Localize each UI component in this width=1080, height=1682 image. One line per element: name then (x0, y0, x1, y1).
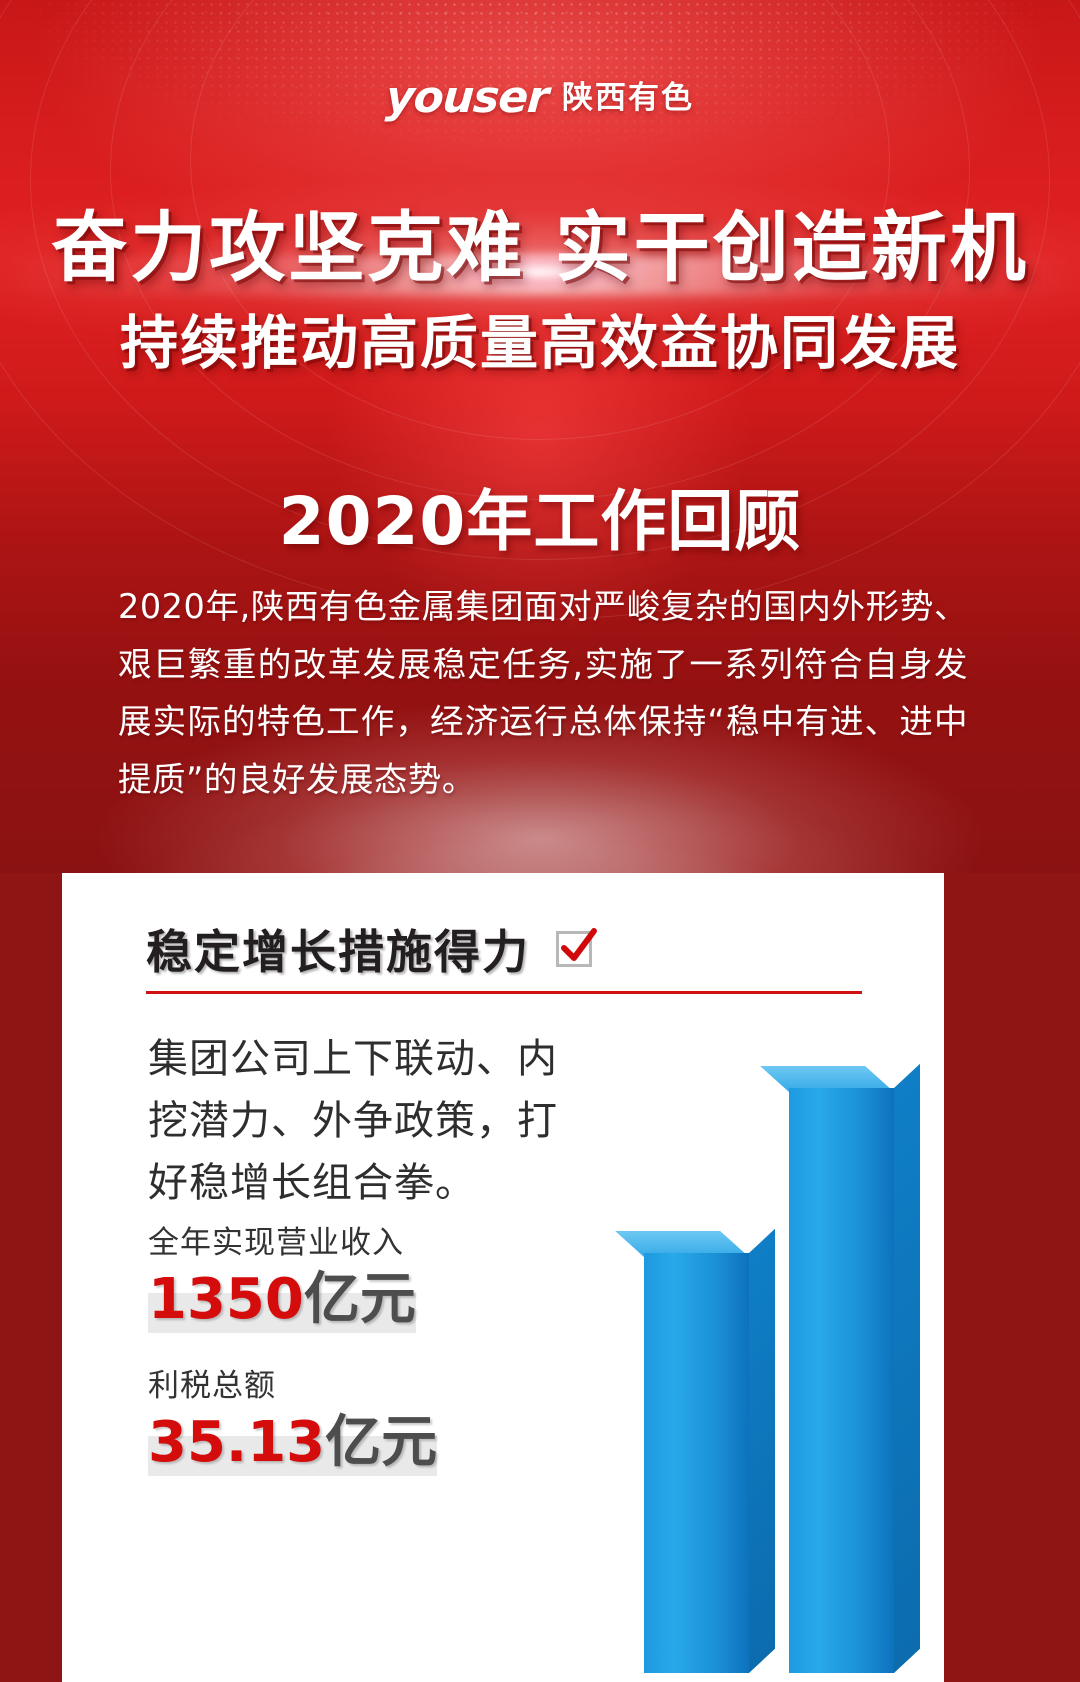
checkmark-icon (556, 931, 592, 967)
stat-value: 1350亿元 (148, 1268, 416, 1332)
stat-revenue: 全年实现营业收入 1350亿元 (148, 1225, 578, 1333)
stat-unit: 亿元 (325, 1410, 437, 1475)
stat-unit: 亿元 (304, 1267, 416, 1332)
card-header: 稳定增长措施得力 (146, 918, 862, 980)
stat-profit-tax: 利税总额 35.13亿元 (148, 1368, 578, 1476)
bar-column-left (644, 1253, 749, 1673)
hero-banner: youser 陕西有色 奋力攻坚克难 实干创造新机 持续推动高质量高效益协同发展… (0, 0, 1080, 873)
hero-subheadline: 持续推动高质量高效益协同发展 (0, 310, 1080, 377)
card-body-text: 集团公司上下联动、内挖潜力、外争政策，打好稳增长组合拳。 (148, 1028, 578, 1214)
bar-column-right (789, 1088, 894, 1673)
bar-side-face (894, 1064, 920, 1673)
bar-front-face (789, 1088, 894, 1673)
card-title: 稳定增长措施得力 (146, 916, 530, 982)
stat-value: 35.13亿元 (148, 1411, 437, 1475)
bar-chart (592, 1013, 922, 1673)
content-card: 稳定增长措施得力 集团公司上下联动、内挖潜力、外争政策，打好稳增长组合拳。 全年… (62, 873, 944, 1682)
stat-number: 1350 (148, 1267, 304, 1332)
stat-label: 利税总额 (148, 1368, 578, 1405)
bar-front-face (644, 1253, 749, 1673)
card-divider (146, 991, 862, 994)
intro-paragraph: 2020年,陕西有色金属集团面对严峻复杂的国内外形势、艰巨繁重的改革发展稳定任务… (118, 578, 968, 808)
hero-headline: 奋力攻坚克难 实干创造新机 (0, 205, 1080, 290)
stat-label: 全年实现营业收入 (148, 1225, 578, 1262)
brand-name-cn: 陕西有色 (562, 83, 694, 114)
stat-number: 35.13 (148, 1410, 325, 1475)
section-title: 2020年工作回顾 (0, 484, 1080, 560)
bar-side-face (749, 1229, 775, 1673)
brand-wordmark: youser (384, 76, 549, 120)
brand-logo: youser 陕西有色 (0, 70, 1080, 126)
